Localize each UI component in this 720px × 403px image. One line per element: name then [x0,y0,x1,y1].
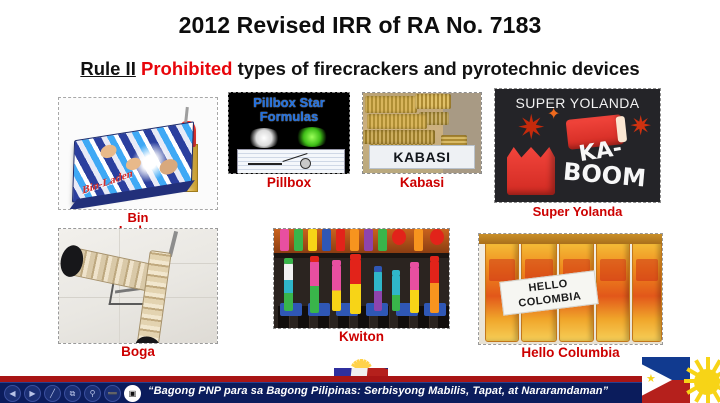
image-kabasi: KABASI [362,92,482,174]
firecracker-tube [430,261,439,313]
caption-pillbox: Pillbox [228,176,350,190]
banner-slogan: “Bagong PNP para sa Bagong Pilipinas: Se… [148,385,608,397]
camera-icon[interactable]: ▣ [124,385,141,402]
flag-star-icon: ★ [646,374,656,385]
flag-sun-icon [682,361,720,401]
page-title: 2012 Revised IRR of RA No. 7183 [0,12,720,39]
play-icon[interactable]: ▶ [24,385,41,402]
subtitle-rest: types of firecrackers and pyrotechnic de… [238,58,640,79]
kaboom-handwriting: KA- BOOM [561,140,657,198]
firecracker-tube [310,261,319,313]
player-toolbar[interactable]: ◀ ▶ ╱ ⧉ ⚲ ➖ ▣ [4,385,141,402]
star-chart-diagram [237,149,345,173]
yolanda-title-text: SUPER YOLANDA [495,95,660,111]
slide-subtitle: Rule II Prohibited types of firecrackers… [0,58,720,80]
kabasi-sign-text: KABASI [369,145,475,169]
caption-boga: Boga [58,345,218,359]
image-super-yolanda: ✷ ✷ ✦ SUPER YOLANDA KA- BOOM [494,88,661,203]
spark-burst-icon: ✷ [629,113,652,140]
firecracker-roll [596,240,630,342]
image-pillbox: Pillbox Star Formulas [228,92,350,174]
bottom-banner: ◀ ▶ ╱ ⧉ ⚲ ➖ ▣ “Bagong PNP para sa Bagong… [0,376,720,403]
subtitle-rule: Rule II [80,58,136,79]
firecracker-tube [374,271,382,311]
copy-icon[interactable]: ⧉ [64,385,81,402]
pillbox-title-line-1: Pillbox Star [229,95,349,110]
caption-super-yolanda: Super Yolanda [494,205,661,218]
green-star-burst [295,127,329,147]
previous-icon[interactable]: ◀ [4,385,21,402]
subtitle-prohibited: Prohibited [141,58,232,79]
firecracker-tube [332,265,341,311]
caption-line-1: Bin [58,211,218,224]
firecracker-tube [410,267,419,313]
spark-burst-icon: ✷ [517,111,546,145]
white-star-burst [247,128,281,148]
image-hello-columbia: HELLO COLOMBIA [478,233,663,345]
firecracker-tube [284,263,293,311]
kaboom-line-2: BOOM [562,160,647,190]
philippine-flag-icon: ★ [642,357,720,403]
red-cracker-piece [507,147,555,195]
caption-kabasi: Kabasi [362,176,482,190]
caption-kwiton: Kwiton [273,330,450,344]
slide-canvas: 2012 Revised IRR of RA No. 7183 Rule II … [0,0,720,403]
caption-hello-columbia: Hello Columbia [478,346,663,360]
minimize-icon[interactable]: ➖ [104,385,121,402]
firecracker-tube [392,275,400,311]
image-kwiton [273,228,450,329]
image-bin-laden: ✦ Bin-Laden [58,97,218,210]
zoom-icon[interactable]: ⚲ [84,385,101,402]
pen-icon[interactable]: ╱ [44,385,61,402]
pillbox-title-line-2: Formulas [229,109,349,124]
image-boga [58,228,218,344]
banner-red-stripe [0,376,720,383]
firecracker-roll [632,240,662,342]
firecracker-tube [350,259,361,314]
